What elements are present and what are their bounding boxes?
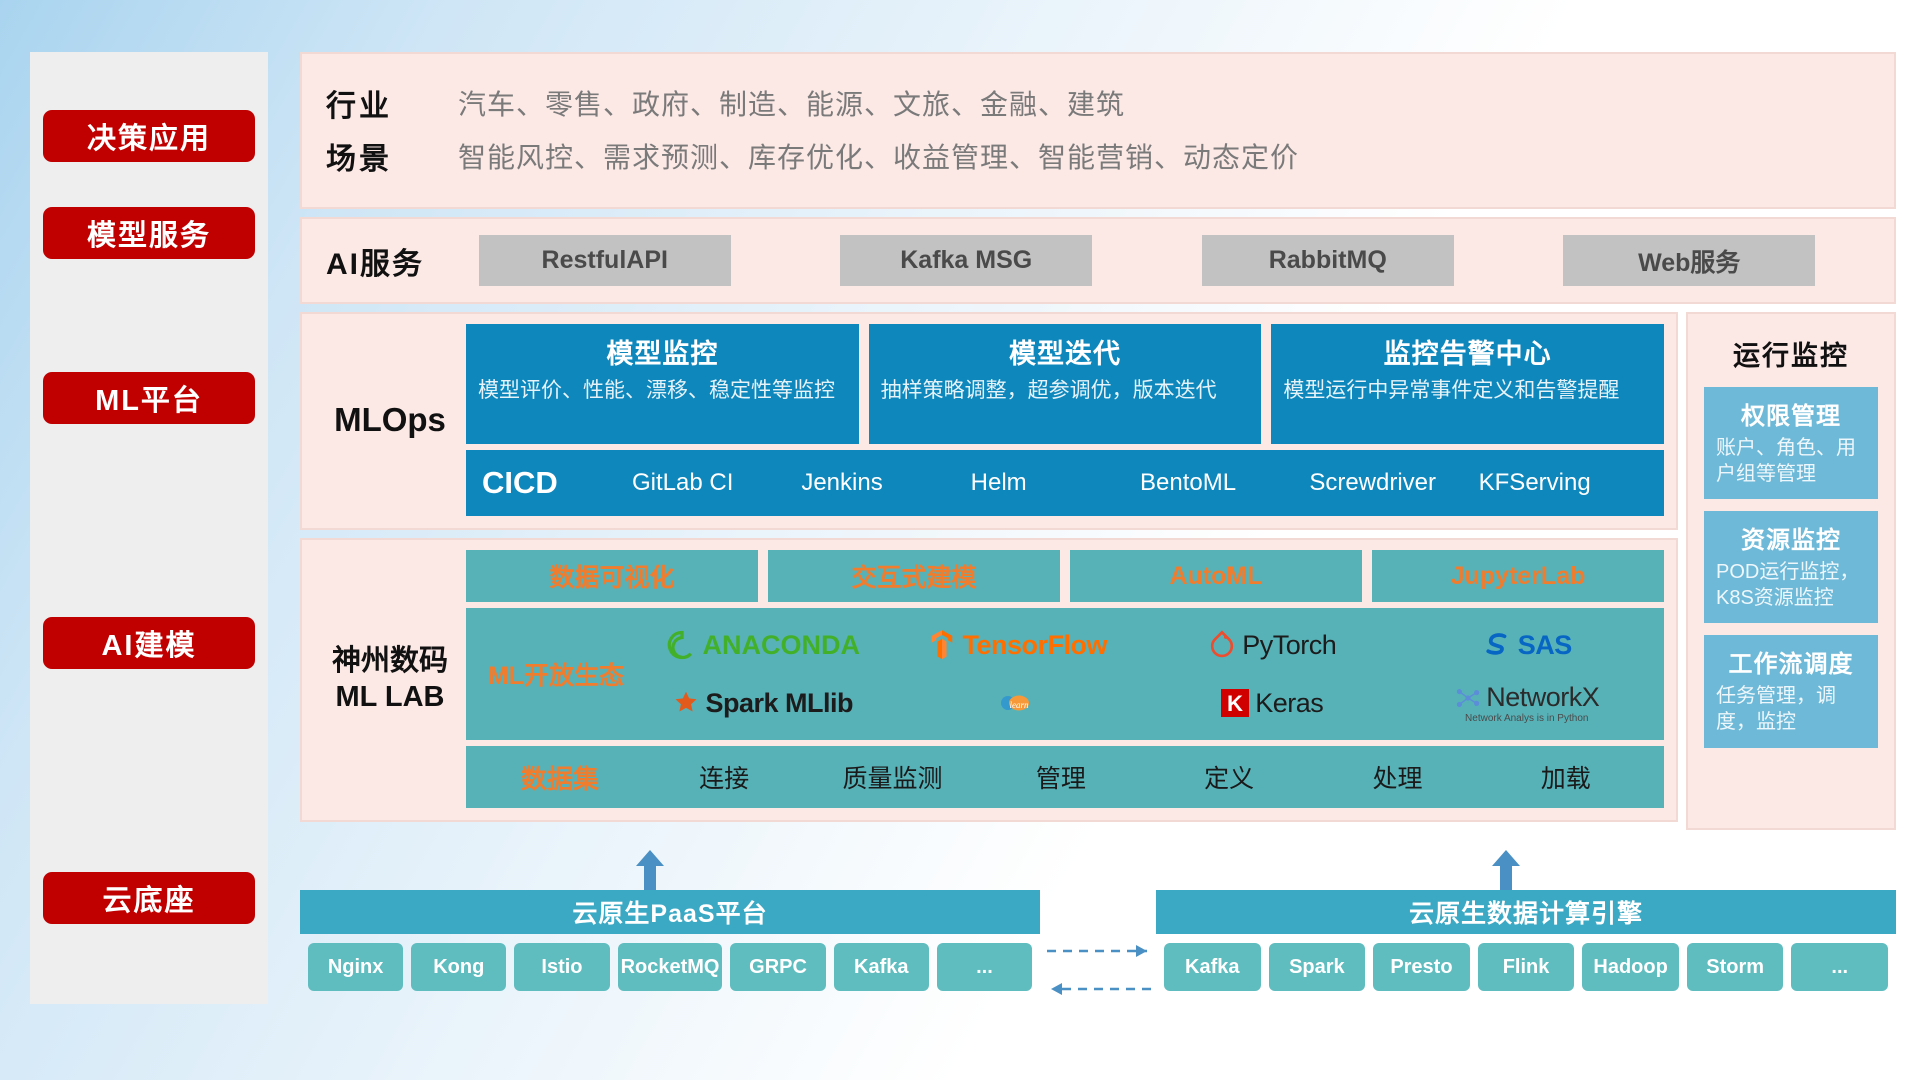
sas-logo: SAS xyxy=(1482,630,1572,661)
dataset-item[interactable]: 连接 xyxy=(640,759,808,795)
ai-service-label: AI服务 xyxy=(326,239,424,283)
ml-ecosystem-label: ML开放生态 xyxy=(476,656,636,692)
dataset-label: 数据集 xyxy=(480,759,640,796)
paas-chip-list: Nginx Kong Istio RocketMQ GRPC Kafka ... xyxy=(300,934,1040,991)
cicd-item[interactable]: KFServing xyxy=(1479,470,1648,496)
cicd-strip: CICD GitLab CI Jenkins Helm BentoML Scre… xyxy=(466,450,1664,516)
cicd-label: CICD xyxy=(482,465,632,501)
architecture-main-column: 行业 汽车、零售、政府、制造、能源、文旅、金融、建筑 场景 智能风控、需求预测、… xyxy=(300,52,1896,830)
runtime-monitor-band: 运行监控 权限管理 账户、角色、用户组等管理 资源监控 POD运行监控，K8S资… xyxy=(1686,312,1896,830)
cicd-item[interactable]: GitLab CI xyxy=(632,470,801,496)
monitor-card-title: 资源监控 xyxy=(1716,520,1866,555)
data-engine-chip[interactable]: Flink xyxy=(1478,943,1575,991)
sas-icon xyxy=(1482,631,1512,659)
mllab-tool-list: 数据可视化 交互式建模 AutoML JupyterLab xyxy=(466,550,1664,602)
networkx-label: NetworkX xyxy=(1486,682,1599,713)
scikit-learn-icon: learn xyxy=(1000,690,1030,716)
data-engine-chip[interactable]: Storm xyxy=(1687,943,1784,991)
mlops-label: MLOps xyxy=(314,324,466,516)
mlops-card-title: 模型监控 xyxy=(478,332,847,371)
cicd-item[interactable]: BentoML xyxy=(1140,470,1309,496)
mlops-band: MLOps 模型监控 模型评价、性能、漂移、稳定性等监控 模型迭代 抽样策略调整… xyxy=(300,312,1678,530)
business-row-value: 汽车、零售、政府、制造、能源、文旅、金融、建筑 xyxy=(458,83,1125,123)
tensorflow-logo: TensorFlow xyxy=(928,629,1107,661)
cicd-item-list: GitLab CI Jenkins Helm BentoML Screwdriv… xyxy=(632,470,1648,496)
svg-text:learn: learn xyxy=(1009,700,1028,710)
layer-pill[interactable]: ML平台 xyxy=(43,372,255,424)
dataset-item[interactable]: 定义 xyxy=(1145,759,1313,795)
ai-service-band: AI服务 RestfulAPI Kafka MSG RabbitMQ Web服务 xyxy=(300,217,1896,304)
business-row-key: 场景 xyxy=(326,134,458,178)
networkx-logo: NetworkX Network Analys is in Python xyxy=(1454,682,1599,724)
mlops-card-list: 模型监控 模型评价、性能、漂移、稳定性等监控 模型迭代 抽样策略调整，超参调优，… xyxy=(466,324,1664,444)
anaconda-label: ANACONDA xyxy=(703,630,861,661)
runtime-monitor-title: 运行监控 xyxy=(1704,334,1878,373)
anaconda-logo: ANACONDA xyxy=(667,630,861,661)
ai-service-chip[interactable]: RestfulAPI xyxy=(479,235,731,286)
ml-ecosystem-row: ML开放生态 ANACONDA xyxy=(466,608,1664,740)
cicd-item[interactable]: Screwdriver xyxy=(1309,470,1478,496)
mlops-card[interactable]: 模型迭代 抽样策略调整，超参调优，版本迭代 xyxy=(869,324,1262,444)
mlops-card-desc: 模型评价、性能、漂移、稳定性等监控 xyxy=(478,377,847,404)
pytorch-icon xyxy=(1208,630,1236,660)
mllab-band: 神州数码 ML LAB 数据可视化 交互式建模 AutoML JupyterLa… xyxy=(300,538,1678,822)
mlops-content: 模型监控 模型评价、性能、漂移、稳定性等监控 模型迭代 抽样策略调整，超参调优，… xyxy=(466,324,1664,516)
platform-left-column: MLOps 模型监控 模型评价、性能、漂移、稳定性等监控 模型迭代 抽样策略调整… xyxy=(300,312,1678,830)
pytorch-label: PyTorch xyxy=(1242,630,1336,661)
business-row-key: 行业 xyxy=(326,81,458,125)
paas-chip[interactable]: Nginx xyxy=(308,943,403,991)
up-arrow-icon xyxy=(1486,850,1526,890)
monitor-card-desc: POD运行监控，K8S资源监控 xyxy=(1716,560,1866,611)
data-engine-chip[interactable]: Hadoop xyxy=(1582,943,1679,991)
dataset-item[interactable]: 加载 xyxy=(1482,759,1650,795)
scikit-learn-logo: learn scikit-learn xyxy=(1000,690,1036,716)
mlops-card[interactable]: 监控告警中心 模型运行中异常事件定义和告警提醒 xyxy=(1271,324,1664,444)
dataset-item[interactable]: 处理 xyxy=(1313,759,1481,795)
layer-pill[interactable]: 模型服务 xyxy=(43,207,255,259)
paas-chip[interactable]: ... xyxy=(937,943,1032,991)
mlops-card-title: 模型迭代 xyxy=(881,332,1250,371)
ai-service-chip[interactable]: Web服务 xyxy=(1563,235,1815,286)
layer-pill[interactable]: AI建模 xyxy=(43,617,255,669)
paas-chip[interactable]: Kafka xyxy=(834,943,929,991)
anaconda-icon xyxy=(667,630,697,660)
data-engine-chip[interactable]: Kafka xyxy=(1164,943,1261,991)
keras-logo: K Keras xyxy=(1221,688,1323,719)
bidirectional-connector xyxy=(1043,935,1155,1007)
ai-service-chip[interactable]: Kafka MSG xyxy=(840,235,1092,286)
monitor-card[interactable]: 资源监控 POD运行监控，K8S资源监控 xyxy=(1704,511,1878,623)
spark-mllib-logo: Spark MLlib xyxy=(673,688,853,719)
keras-icon: K xyxy=(1221,689,1249,717)
svg-text:K: K xyxy=(1227,691,1243,716)
mlops-card-title: 监控告警中心 xyxy=(1283,332,1652,371)
sas-label: SAS xyxy=(1518,630,1572,661)
mllab-content: 数据可视化 交互式建模 AutoML JupyterLab ML开放生态 xyxy=(466,550,1664,808)
business-row-industry: 行业 汽车、零售、政府、制造、能源、文旅、金融、建筑 xyxy=(326,81,1870,125)
networkx-icon xyxy=(1454,685,1482,711)
tensorflow-icon xyxy=(928,629,956,661)
monitor-card[interactable]: 工作流调度 任务管理，调度，监控 xyxy=(1704,635,1878,747)
paas-chip[interactable]: RocketMQ xyxy=(618,943,723,991)
mllab-label-line2: ML LAB xyxy=(332,679,448,715)
business-row-scenario: 场景 智能风控、需求预测、库存优化、收益管理、智能营销、动态定价 xyxy=(326,134,1870,178)
networkx-subtitle: Network Analys is in Python xyxy=(1465,713,1588,724)
data-engine-column: 云原生数据计算引擎 Kafka Spark Presto Flink Hadoo… xyxy=(1156,890,1896,991)
business-row-value: 智能风控、需求预测、库存优化、收益管理、智能营销、动态定价 xyxy=(458,136,1299,176)
layer-pill[interactable]: 云底座 xyxy=(43,872,255,924)
business-band: 行业 汽车、零售、政府、制造、能源、文旅、金融、建筑 场景 智能风控、需求预测、… xyxy=(300,52,1896,209)
dataset-item[interactable]: 管理 xyxy=(977,759,1145,795)
ml-ecosystem-logo-grid: ANACONDA TensorFlow xyxy=(636,616,1654,732)
paas-chip[interactable]: Istio xyxy=(514,943,609,991)
data-engine-chip[interactable]: Presto xyxy=(1373,943,1470,991)
dataset-item-list: 连接 质量监测 管理 定义 处理 加载 xyxy=(640,759,1650,795)
platform-section: MLOps 模型监控 模型评价、性能、漂移、稳定性等监控 模型迭代 抽样策略调整… xyxy=(300,312,1896,830)
ai-service-chip-list: RestfulAPI Kafka MSG RabbitMQ Web服务 xyxy=(424,235,1870,286)
mlops-card-desc: 抽样策略调整，超参调优，版本迭代 xyxy=(881,377,1250,404)
dataset-row: 数据集 连接 质量监测 管理 定义 处理 加载 xyxy=(466,746,1664,808)
mllab-tool-chip[interactable]: 交互式建模 xyxy=(768,550,1060,602)
data-engine-header: 云原生数据计算引擎 xyxy=(1156,890,1896,934)
paas-chip[interactable]: GRPC xyxy=(730,943,825,991)
data-engine-chip[interactable]: ... xyxy=(1791,943,1888,991)
paas-platform-column: 云原生PaaS平台 Nginx Kong Istio RocketMQ GRPC… xyxy=(300,890,1040,991)
cicd-item[interactable]: Jenkins xyxy=(801,470,970,496)
up-arrow-icon xyxy=(630,850,670,890)
spark-star-icon xyxy=(673,690,699,716)
layer-pill[interactable]: 决策应用 xyxy=(43,110,255,162)
dataset-item[interactable]: 质量监测 xyxy=(808,759,976,795)
mllab-tool-chip[interactable]: 数据可视化 xyxy=(466,550,758,602)
cicd-item[interactable]: Helm xyxy=(971,470,1140,496)
mlops-card-desc: 模型运行中异常事件定义和告警提醒 xyxy=(1283,377,1652,404)
paas-header: 云原生PaaS平台 xyxy=(300,890,1040,934)
data-engine-chip[interactable]: Spark xyxy=(1269,943,1366,991)
mllab-tool-chip[interactable]: AutoML xyxy=(1070,550,1362,602)
monitor-card-desc: 账户、角色、用户组等管理 xyxy=(1716,436,1866,487)
data-engine-chip-list: Kafka Spark Presto Flink Hadoop Storm ..… xyxy=(1156,934,1896,991)
monitor-card-desc: 任务管理，调度，监控 xyxy=(1716,684,1866,735)
mllab-tool-chip[interactable]: JupyterLab xyxy=(1372,550,1664,602)
layer-rail: 决策应用模型服务ML平台AI建模云底座 xyxy=(30,52,268,1004)
mllab-label-line1: 神州数码 xyxy=(332,643,448,679)
ai-service-chip[interactable]: RabbitMQ xyxy=(1202,235,1454,286)
tensorflow-label: TensorFlow xyxy=(962,630,1107,661)
spark-mllib-label: Spark MLlib xyxy=(705,688,853,719)
mllab-label: 神州数码 ML LAB xyxy=(314,550,466,808)
monitor-card-title: 工作流调度 xyxy=(1716,644,1866,679)
paas-chip[interactable]: Kong xyxy=(411,943,506,991)
monitor-card-title: 权限管理 xyxy=(1716,396,1866,431)
pytorch-logo: PyTorch xyxy=(1208,630,1336,661)
monitor-card[interactable]: 权限管理 账户、角色、用户组等管理 xyxy=(1704,387,1878,499)
keras-label: Keras xyxy=(1255,688,1323,719)
mlops-card[interactable]: 模型监控 模型评价、性能、漂移、稳定性等监控 xyxy=(466,324,859,444)
